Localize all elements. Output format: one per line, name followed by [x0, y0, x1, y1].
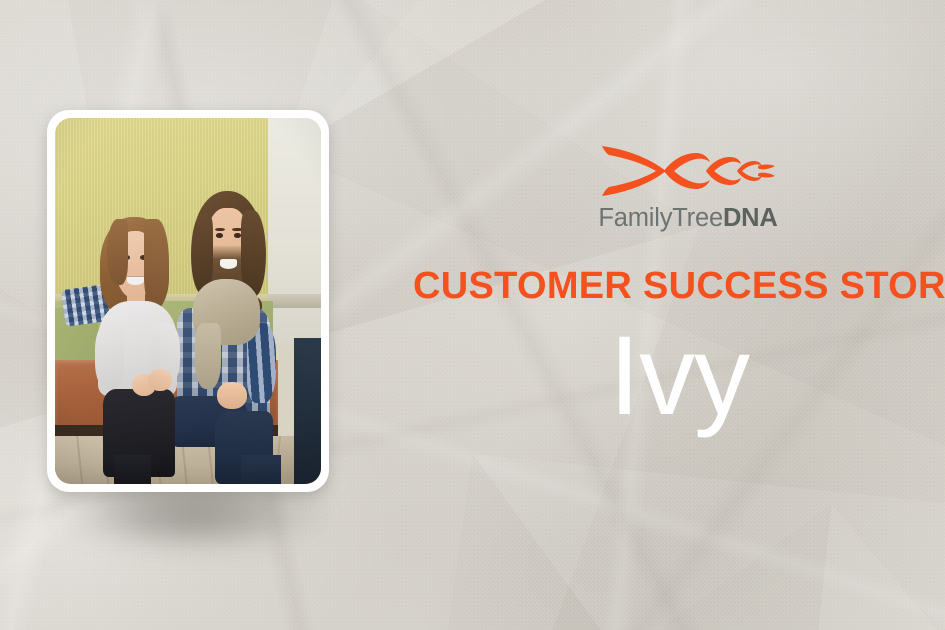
- subject-name: Ivy: [609, 320, 749, 432]
- brand-logo: FamilyTreeDNA: [560, 140, 816, 233]
- photo-vignette: [55, 118, 321, 484]
- customer-photo-card: [47, 110, 329, 492]
- brand-wordmark-bold: DNA: [723, 204, 778, 232]
- brand-wordmark: FamilyTreeDNA: [560, 204, 816, 233]
- dna-helix-icon: [600, 140, 776, 202]
- brand-wordmark-light: FamilyTree: [598, 204, 723, 232]
- promo-graphic-canvas: FamilyTreeDNA CUSTOMER SUCCESS STORIES I…: [0, 0, 945, 630]
- customer-photo-image: [55, 118, 321, 484]
- headline-customer-success-stories: CUSTOMER SUCCESS STORIES: [413, 265, 945, 308]
